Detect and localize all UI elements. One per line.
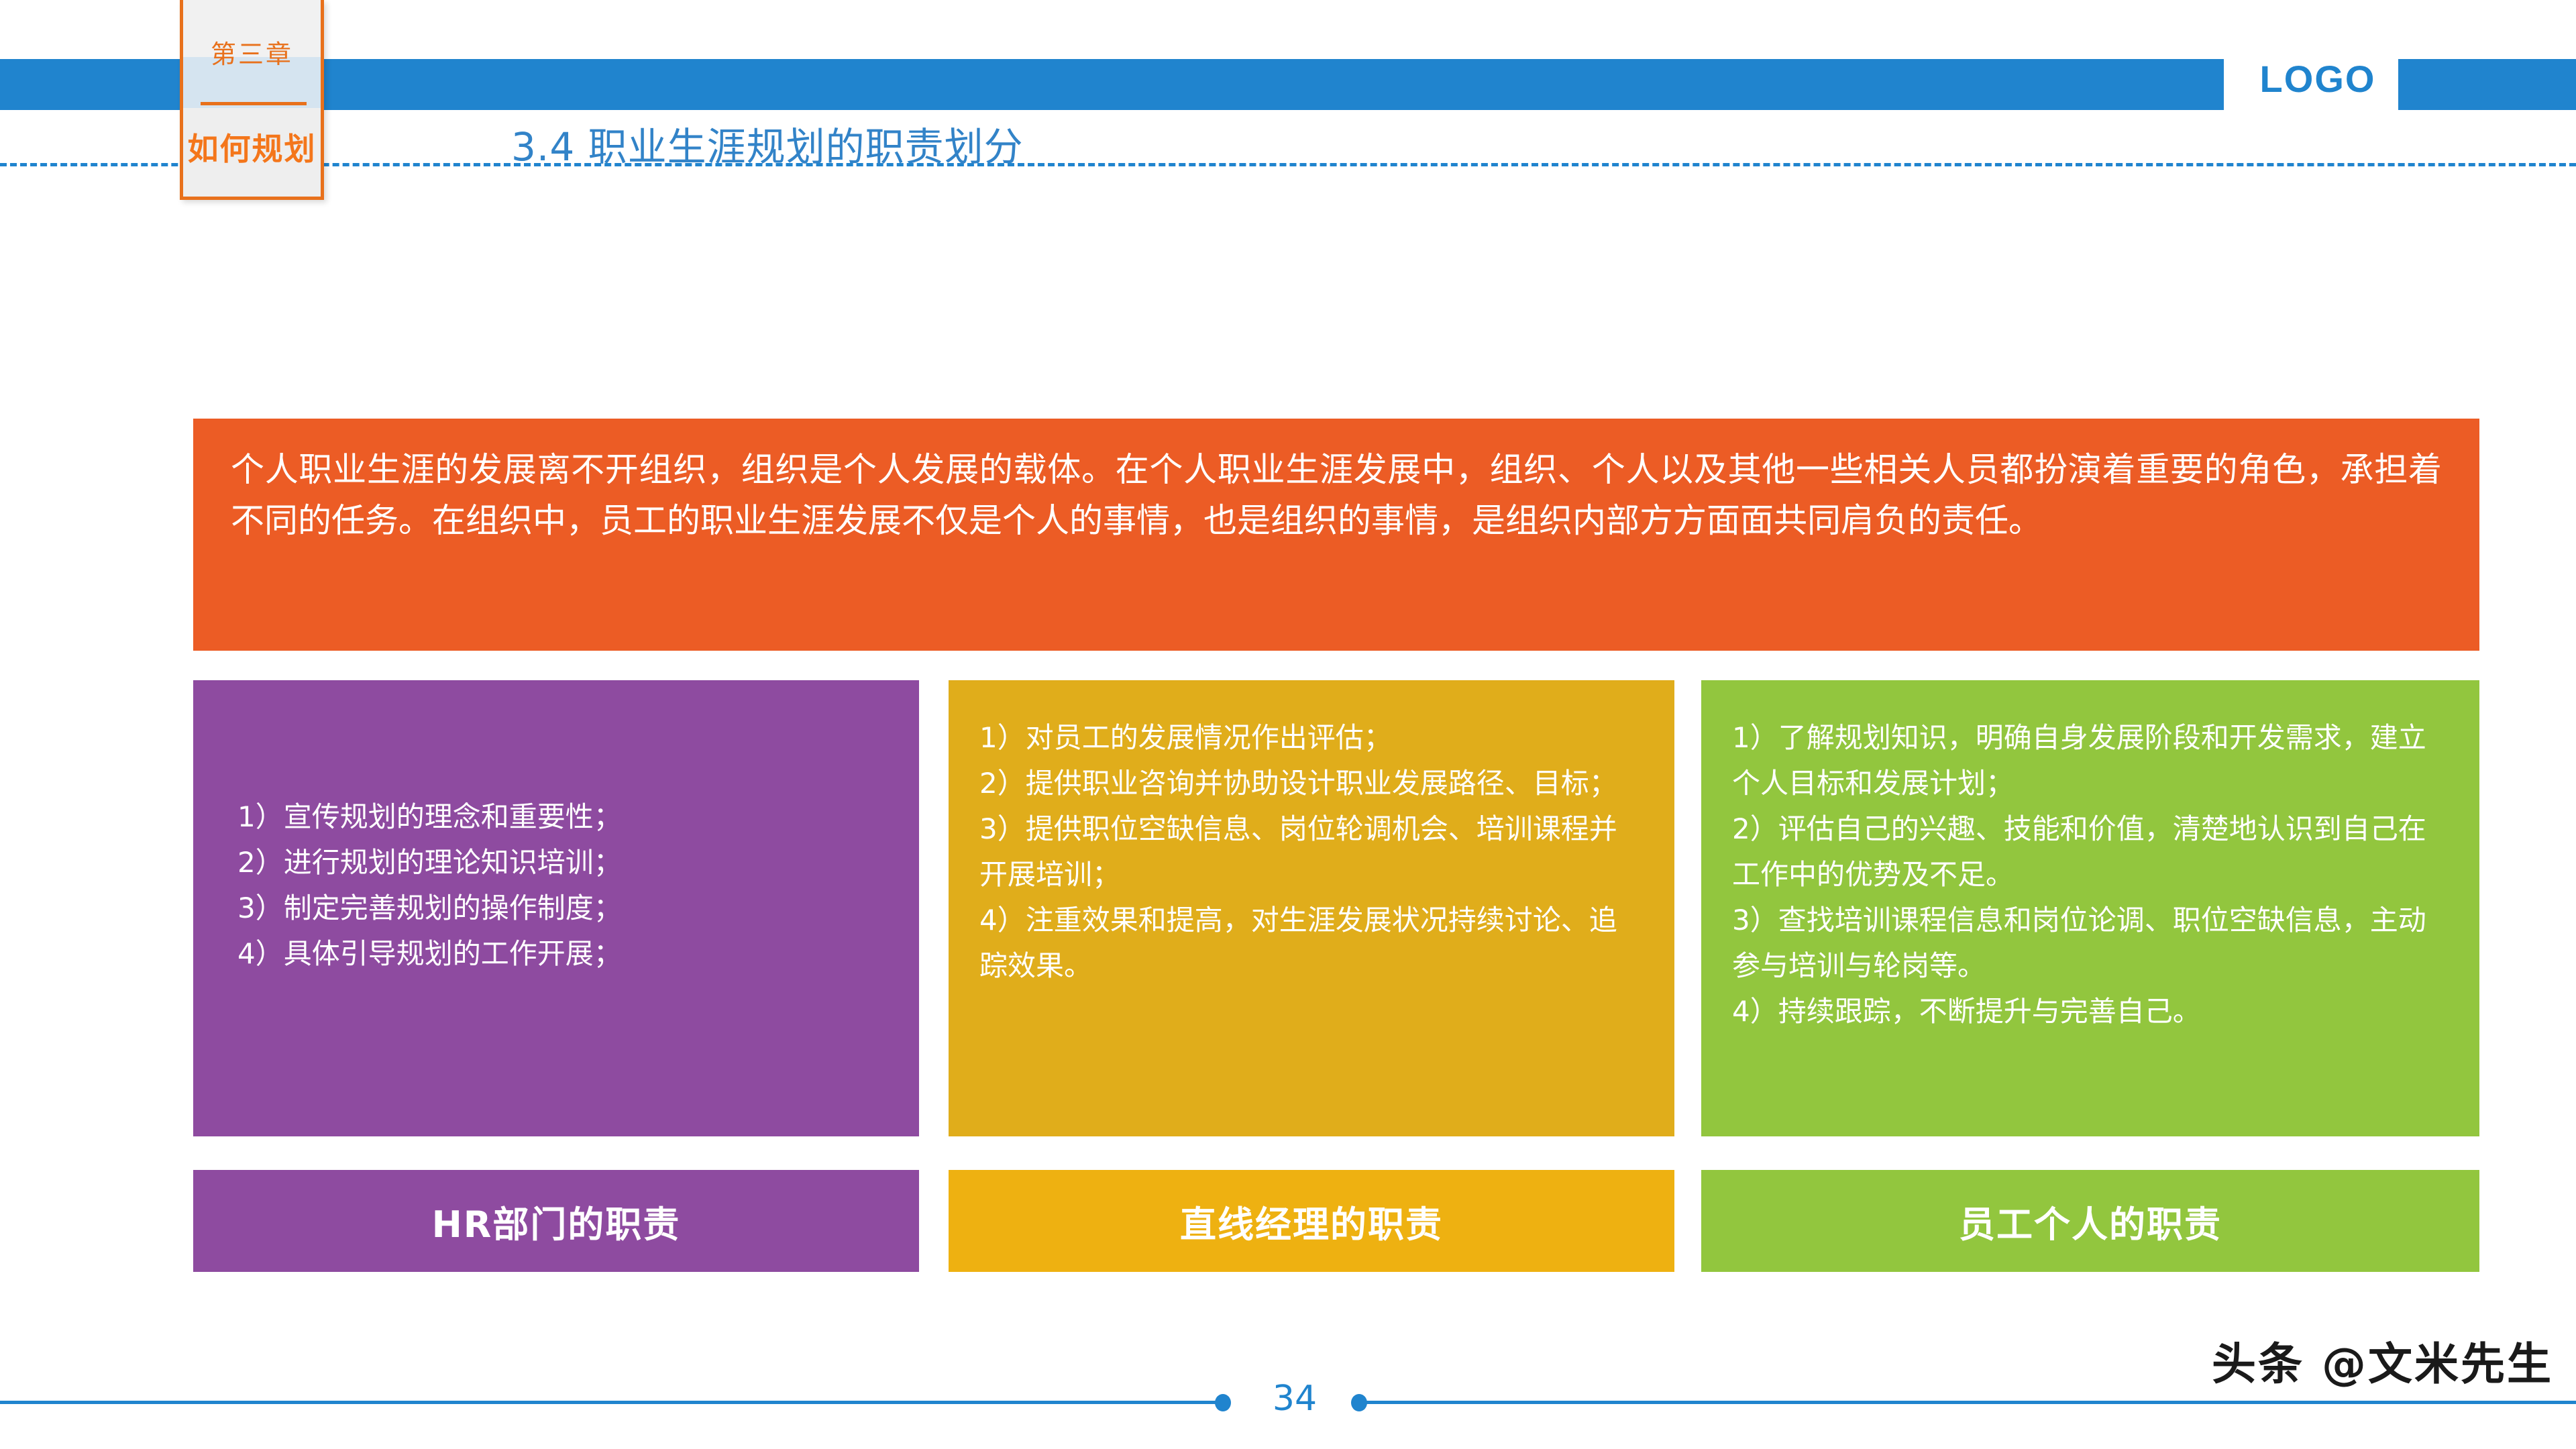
list-item: 3）提供职位空缺信息、岗位轮调机会、培训课程并开展培训； (979, 806, 1644, 898)
column-footer-label: 员工个人的职责 (1959, 1195, 2222, 1248)
column-footer-label: 直线经理的职责 (1180, 1195, 1443, 1248)
list-item: 4）具体引导规划的工作开展； (237, 931, 919, 977)
column-body-manager: 1）对员工的发展情况作出评估； 2）提供职业咨询并协助设计职业发展路径、目标； … (949, 680, 1674, 1136)
chapter-title-label: 如何规划 (183, 125, 321, 169)
list-item: 2）进行规划的理论知识培训； (237, 840, 919, 885)
column-body-hr: 1）宣传规划的理念和重要性； 2）进行规划的理论知识培训； 3）制定完善规划的操… (193, 680, 919, 1136)
list-item: 1）了解规划知识，明确自身发展阶段和开发需求，建立个人目标和发展计划； (1732, 715, 2453, 806)
chapter-divider-rule (201, 102, 307, 105)
watermark-text: 头条 @文米先生 (2212, 1328, 2553, 1393)
column-footer-manager[interactable]: 直线经理的职责 (949, 1170, 1674, 1272)
column-footer-label: HR部门的职责 (432, 1195, 681, 1248)
footer-rule-left (0, 1401, 1223, 1404)
list-item: 4）持续跟踪，不断提升与完善自己。 (1732, 989, 2453, 1034)
chapter-number-label: 第三章 (183, 34, 321, 70)
page-number: 34 (1244, 1379, 1345, 1419)
list-item: 1）宣传规划的理念和重要性； (237, 794, 919, 840)
list-item: 3）查找培训课程信息和岗位论调、职位空缺信息，主动参与培训与轮岗等。 (1732, 898, 2453, 989)
column-footer-hr[interactable]: HR部门的职责 (193, 1170, 919, 1272)
intro-paragraph-panel: 个人职业生涯的发展离不开组织，组织是个人发展的载体。在个人职业生涯发展中，组织、… (193, 419, 2479, 651)
list-item: 4）注重效果和提高，对生涯发展状况持续讨论、追踪效果。 (979, 898, 1644, 989)
logo-text: LOGO (2241, 57, 2395, 101)
footer-dot-left (1215, 1394, 1231, 1411)
footer-rule-right (1356, 1401, 2576, 1404)
column-body-employee: 1）了解规划知识，明确自身发展阶段和开发需求，建立个人目标和发展计划； 2）评估… (1701, 680, 2479, 1136)
page-title: 3.4 职业生涯规划的职责划分 (511, 115, 1024, 172)
header-dashed-divider (0, 163, 2576, 166)
column-footer-employee[interactable]: 员工个人的职责 (1701, 1170, 2479, 1272)
header-blue-bar (0, 59, 2576, 110)
header-blue-bar-right-segment (2415, 59, 2576, 110)
list-item: 2）提供职业咨询并协助设计职业发展路径、目标； (979, 761, 1644, 806)
list-item: 2）评估自己的兴趣、技能和价值，清楚地认识到自己在工作中的优势及不足。 (1732, 806, 2453, 898)
list-item: 1）对员工的发展情况作出评估； (979, 715, 1644, 761)
chapter-tab[interactable]: 第三章 如何规划 (180, 0, 324, 200)
list-item: 3）制定完善规划的操作制度； (237, 885, 919, 931)
